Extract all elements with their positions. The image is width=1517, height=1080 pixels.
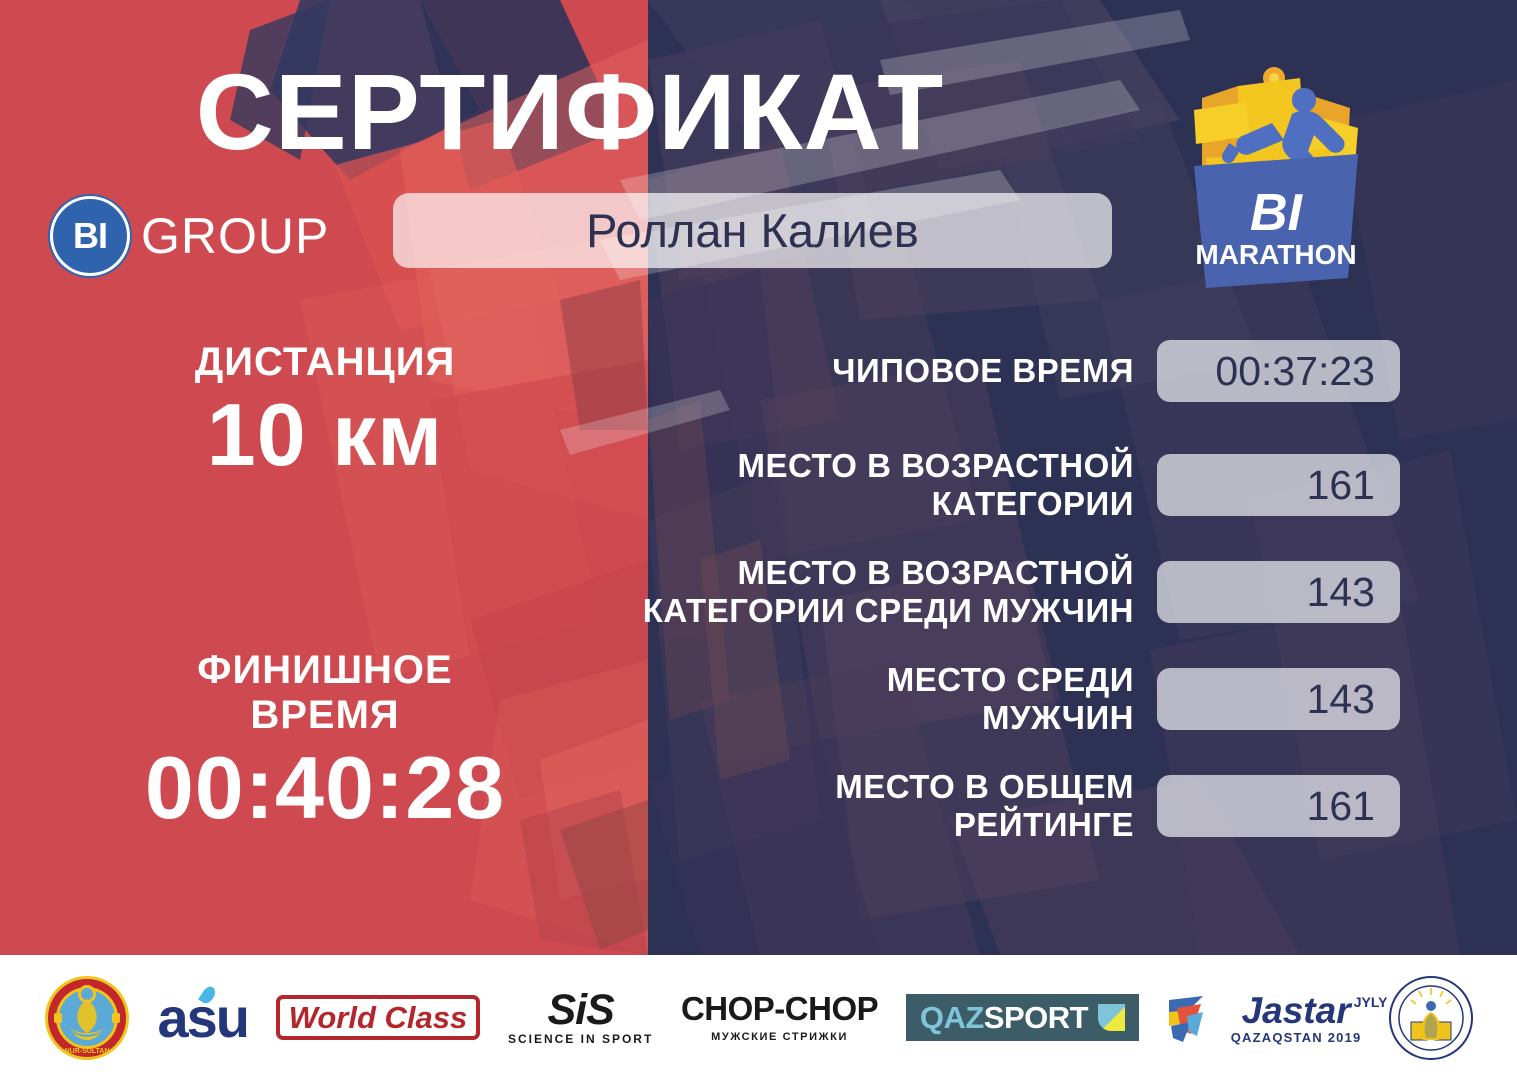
stat-value-pill: 161 xyxy=(1157,454,1400,516)
qazsport-wordmark: QAZSPORT xyxy=(920,1002,1088,1033)
stat-value: 00:37:23 xyxy=(1215,351,1400,392)
bi-logo-initials: BI xyxy=(73,218,107,254)
stat-row: МЕСТО СРЕДИМУЖЧИН143 xyxy=(520,661,1400,738)
finish-time-label-line1: ФИНИШНОЕ xyxy=(60,648,590,693)
stat-row-label: ЧИПОВОЕ ВРЕМЯ xyxy=(832,352,1134,390)
stat-value: 161 xyxy=(1307,786,1400,827)
distance-value: 10 км xyxy=(60,389,590,481)
qazsport-badge: QAZSPORT xyxy=(906,994,1139,1041)
chop-chop-logo: CHOP-CHOP МУЖСКИЕ СТРИЖКИ xyxy=(681,992,878,1043)
jastar-main-text: Jastar xyxy=(1231,992,1362,1029)
stat-label-line: МЕСТО В ВОЗРАСТНОЙ xyxy=(643,554,1134,592)
stat-row-label: МЕСТО В ВОЗРАСТНОЙКАТЕГОРИИ СРЕДИ МУЖЧИН xyxy=(643,554,1134,631)
ministry-emblem-icon xyxy=(1389,976,1473,1060)
sponsor-jastar-jyly: Jastar JYLY QAZAQSTAN 2019 xyxy=(1167,990,1362,1046)
marathon-word-text: MARATHON xyxy=(1195,239,1356,270)
nur-sultan-emblem-icon: NUR-SULTAN xyxy=(44,975,130,1061)
stat-value-pill: 143 xyxy=(1157,561,1400,623)
jastar-text-block: Jastar JYLY QAZAQSTAN 2019 xyxy=(1231,992,1362,1044)
stat-row-label: МЕСТО В ОБЩЕМРЕЙТИНГЕ xyxy=(835,768,1134,845)
distance-block: ДИСТАНЦИЯ 10 км xyxy=(60,340,590,481)
sponsor-chop-chop: CHOP-CHOP МУЖСКИЕ СТРИЖКИ xyxy=(681,992,878,1043)
page-title: СЕРТИФИКАТ xyxy=(0,58,1140,166)
stat-row: МЕСТО В ВОЗРАСТНОЙКАТЕГОРИИ СРЕДИ МУЖЧИН… xyxy=(520,554,1400,631)
sis-logo: SiS SCIENCE IN SPORT xyxy=(508,990,653,1046)
sis-main-text: SiS xyxy=(508,990,653,1031)
stat-label-line: КАТЕГОРИИ xyxy=(737,485,1134,523)
stat-label-line: МЕСТО СРЕДИ xyxy=(887,661,1134,699)
stat-label-line: РЕЙТИНГЕ xyxy=(835,806,1134,844)
sis-sub-text: SCIENCE IN SPORT xyxy=(508,1033,653,1045)
jastar-sub-text: QAZAQSTAN 2019 xyxy=(1231,1031,1362,1044)
stat-row: МЕСТО В ВОЗРАСТНОЙКАТЕГОРИИ161 xyxy=(520,447,1400,524)
finish-time-value: 00:40:28 xyxy=(60,742,590,834)
qazsport-sport-text: SPORT xyxy=(984,1000,1088,1035)
finish-time-label-line2: ВРЕМЯ xyxy=(60,693,590,738)
stat-row-label: МЕСТО СРЕДИМУЖЧИН xyxy=(887,661,1134,738)
participant-name: Роллан Калиев xyxy=(586,207,919,254)
bi-group-wordmark: GROUP xyxy=(141,211,329,261)
stat-value-pill: 143 xyxy=(1157,668,1400,730)
finish-time-block: ФИНИШНОЕ ВРЕМЯ 00:40:28 xyxy=(60,648,590,834)
stat-row-label: МЕСТО В ВОЗРАСТНОЙКАТЕГОРИИ xyxy=(737,447,1134,524)
stat-row: МЕСТО В ОБЩЕМРЕЙТИНГЕ161 xyxy=(520,768,1400,845)
chop-chop-main-text: CHOP-CHOP xyxy=(681,992,878,1025)
world-class-badge: World Class xyxy=(276,995,481,1040)
stat-value-pill: 161 xyxy=(1157,775,1400,837)
nur-sultan-label: NUR-SULTAN xyxy=(64,1048,109,1055)
jastar-jyly-text: JYLY xyxy=(1354,994,1388,1010)
sponsor-qazsport: QAZSPORT xyxy=(906,994,1139,1041)
stat-value: 143 xyxy=(1307,572,1400,613)
stat-label-line: ЧИПОВОЕ ВРЕМЯ xyxy=(832,352,1134,390)
stat-label-line: МЕСТО В ОБЩЕМ xyxy=(835,768,1134,806)
chop-chop-sub-text: МУЖСКИЕ СТРИЖКИ xyxy=(681,1032,878,1043)
stat-value: 143 xyxy=(1307,679,1400,720)
qazsport-qaz-text: QAZ xyxy=(920,1000,984,1035)
stat-value-pill: 00:37:23 xyxy=(1157,340,1400,402)
stat-label-line: МЕСТО В ВОЗРАСТНОЙ xyxy=(737,447,1134,485)
bi-marathon-logo: BI MARATHON xyxy=(1180,62,1380,294)
stat-label-line: МУЖЧИН xyxy=(887,699,1134,737)
marathon-bi-text: BI xyxy=(1250,184,1304,242)
distance-label: ДИСТАНЦИЯ xyxy=(60,340,590,385)
sponsor-ministry xyxy=(1389,976,1473,1060)
sponsor-nur-sultan: NUR-SULTAN xyxy=(44,975,130,1061)
bi-logo-icon: BI xyxy=(50,196,130,276)
jastar-bird-icon xyxy=(1167,990,1225,1046)
jastar-logo: Jastar JYLY QAZAQSTAN 2019 xyxy=(1167,990,1362,1046)
stat-row: ЧИПОВОЕ ВРЕМЯ00:37:23 xyxy=(520,340,1400,402)
sponsor-sis: SiS SCIENCE IN SPORT xyxy=(508,990,653,1046)
sponsor-logos: NUR-SULTAN asu World Class SiS SCIENCE I… xyxy=(0,955,1517,1080)
certificate-root: СЕРТИФИКАТ Роллан Калиев BI GROUP BI MAR… xyxy=(0,0,1517,1080)
world-class-text: World Class xyxy=(289,1002,468,1033)
stat-label-line: КАТЕГОРИИ СРЕДИ МУЖЧИН xyxy=(643,592,1134,630)
bi-group-logo: BI GROUP xyxy=(50,196,329,276)
asu-wordmark: asu xyxy=(158,990,249,1046)
participant-name-box: Роллан Калиев xyxy=(393,193,1112,268)
sponsor-world-class: World Class xyxy=(276,995,481,1040)
stat-value: 161 xyxy=(1307,465,1400,506)
qazsport-mark-icon xyxy=(1098,1004,1125,1031)
sponsor-asu: asu xyxy=(158,990,249,1046)
